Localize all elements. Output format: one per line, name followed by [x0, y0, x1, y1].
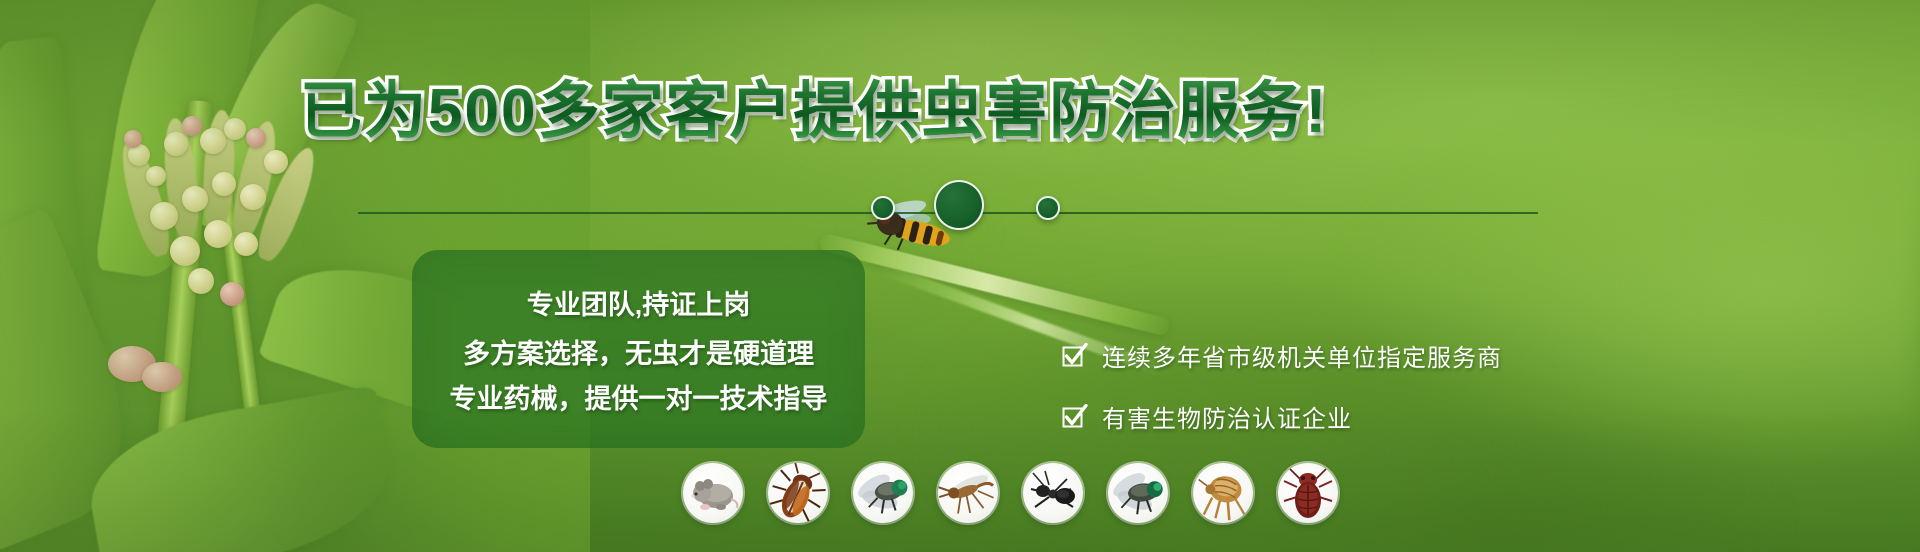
decorative-dot-small [1036, 196, 1060, 220]
list-item-label: 连续多年省市级机关单位指定服务商 [1102, 338, 1502, 373]
list-item-label: 有害生物防治认证企业 [1102, 399, 1352, 434]
slogan-panel-text: 专业团队,持证上岗 多方案选择，无虫才是硬道理 专业药械，提供一对一技术指导 [412, 250, 865, 448]
list-item: 有害生物防治认证企业 [1062, 399, 1502, 434]
mosquito-icon[interactable] [938, 463, 998, 523]
slogan-line-2: 多方案选择，无虫才是硬道理 [463, 332, 814, 371]
credential-list: 连续多年省市级机关单位指定服务商 有害生物防治认证企业 [1062, 338, 1502, 434]
pest-icon-row [683, 463, 1338, 523]
list-item: 连续多年省市级机关单位指定服务商 [1062, 338, 1502, 373]
bedbug-icon[interactable] [1278, 463, 1338, 523]
checkbox-check-icon [1062, 404, 1088, 430]
flea-icon[interactable] [1193, 463, 1253, 523]
pest-control-hero-banner: 已为500多家客户提供虫害防治服务! 已为500多家客户提供虫害防治服务! 专业… [0, 0, 1920, 552]
decorative-dot-large [934, 180, 984, 230]
ant-icon[interactable] [1023, 463, 1083, 523]
slogan-line-1: 专业团队,持证上岗 [527, 283, 751, 322]
checkbox-check-icon [1062, 343, 1088, 369]
fly-icon[interactable] [853, 463, 913, 523]
cockroach-icon[interactable] [768, 463, 828, 523]
blowfly-icon[interactable] [1108, 463, 1168, 523]
page-title: 已为500多家客户提供虫害防治服务! [300, 74, 1540, 150]
mouse-icon[interactable] [683, 463, 743, 523]
decorative-dot-small [871, 196, 895, 220]
slogan-line-3: 专业药械，提供一对一技术指导 [450, 377, 828, 416]
